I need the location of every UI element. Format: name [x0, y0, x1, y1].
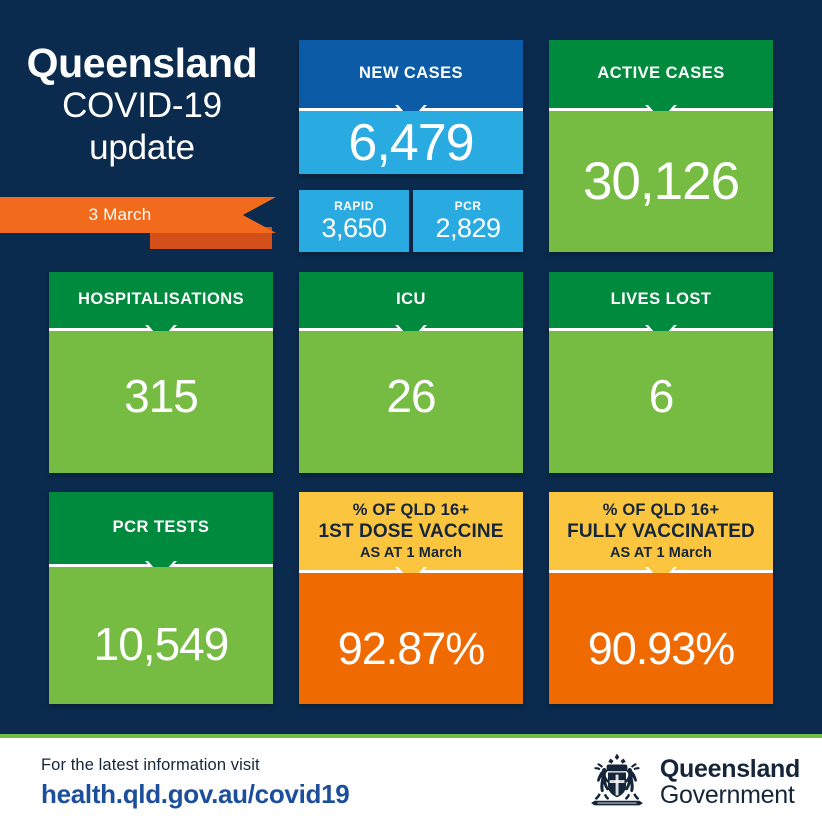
- footer-url[interactable]: health.qld.gov.au/covid19: [41, 779, 349, 810]
- card-title-first-dose-line2: 1ST DOSE VACCINE: [319, 521, 504, 544]
- logo-word-queensland: Queensland: [660, 757, 800, 783]
- footer-text-block: For the latest information visit health.…: [41, 756, 349, 810]
- card-header-pcr-tests: PCR TESTS: [49, 492, 273, 564]
- title-line-update: update: [0, 127, 284, 168]
- card-header-new-cases: NEW CASES: [299, 40, 523, 108]
- card-body-icu: 26: [299, 331, 523, 473]
- covid-update-infographic: Queensland COVID-19 update 3 March NEW C…: [0, 0, 822, 822]
- title-line-covid19: COVID-19: [0, 85, 284, 126]
- logo-word-government: Government: [660, 783, 800, 809]
- card-body-new-cases: 6,479: [299, 111, 523, 174]
- stat-card-first-dose-vaccine: % OF QLD 16+ 1ST DOSE VACCINE AS AT 1 Ma…: [299, 492, 523, 704]
- card-header-first-dose: % OF QLD 16+ 1ST DOSE VACCINE AS AT 1 Ma…: [299, 492, 523, 570]
- stat-card-fully-vaccinated: % OF QLD 16+ FULLY VACCINATED AS AT 1 Ma…: [549, 492, 773, 704]
- card-header-active-cases: ACTIVE CASES: [549, 40, 773, 108]
- card-title-icu: ICU: [396, 290, 426, 310]
- subtile-label-pcr: PCR: [455, 199, 482, 213]
- subtile-rapid: RAPID 3,650: [299, 190, 409, 252]
- card-header-fully-vaccinated: % OF QLD 16+ FULLY VACCINATED AS AT 1 Ma…: [549, 492, 773, 570]
- queensland-government-logo: Queensland Government: [586, 752, 800, 813]
- subtile-pcr: PCR 2,829: [413, 190, 523, 252]
- subtile-value-rapid: 3,650: [321, 214, 386, 242]
- card-body-lives-lost: 6: [549, 331, 773, 473]
- stat-card-icu: ICU 26: [299, 272, 523, 473]
- card-title-active-cases: ACTIVE CASES: [597, 64, 724, 84]
- card-value-pcr-tests: 10,549: [94, 621, 229, 667]
- stat-card-hospitalisations: HOSPITALISATIONS 315: [49, 272, 273, 473]
- card-value-icu: 26: [386, 373, 435, 419]
- card-title-fully-vaccinated-line2: FULLY VACCINATED: [567, 521, 755, 544]
- stat-card-lives-lost: LIVES LOST 6: [549, 272, 773, 473]
- subtile-label-rapid: RAPID: [334, 199, 374, 213]
- card-header-hospitalisations: HOSPITALISATIONS: [49, 272, 273, 328]
- card-value-new-cases: 6,479: [348, 117, 473, 169]
- card-body-active-cases: 30,126: [549, 111, 773, 252]
- card-body-pcr-tests: 10,549: [49, 567, 273, 704]
- stat-card-new-cases: NEW CASES 6,479: [299, 40, 523, 174]
- card-title-pcr-tests: PCR TESTS: [113, 518, 210, 538]
- card-body-hospitalisations: 315: [49, 331, 273, 473]
- card-value-hospitalisations: 315: [124, 373, 198, 419]
- subtile-value-pcr: 2,829: [435, 214, 500, 242]
- date-ribbon: 3 March: [0, 197, 290, 253]
- stat-card-active-cases: ACTIVE CASES 30,126: [549, 40, 773, 252]
- ribbon-date-label: 3 March: [0, 197, 240, 233]
- card-body-fully-vaccinated: 90.93%: [549, 573, 773, 704]
- card-title-fully-vaccinated-line1: % OF QLD 16+: [603, 500, 720, 521]
- card-title-first-dose-line3: AS AT 1 March: [360, 544, 462, 563]
- card-title-hospitalisations: HOSPITALISATIONS: [78, 290, 244, 310]
- footer: For the latest information visit health.…: [0, 738, 822, 822]
- card-title-fully-vaccinated-line3: AS AT 1 March: [610, 544, 712, 563]
- title-line-queensland: Queensland: [0, 42, 284, 85]
- card-title-lives-lost: LIVES LOST: [611, 290, 712, 310]
- stat-card-pcr-tests: PCR TESTS 10,549: [49, 492, 273, 704]
- card-header-lives-lost: LIVES LOST: [549, 272, 773, 328]
- card-value-active-cases: 30,126: [583, 155, 739, 208]
- card-value-lives-lost: 6: [649, 373, 674, 419]
- card-value-fully-vaccinated: 90.93%: [588, 626, 735, 671]
- coat-of-arms-icon: [586, 752, 648, 813]
- logo-wordmark: Queensland Government: [660, 757, 800, 808]
- card-header-icu: ICU: [299, 272, 523, 328]
- card-body-first-dose: 92.87%: [299, 573, 523, 704]
- card-title-first-dose-line1: % OF QLD 16+: [353, 500, 470, 521]
- card-title-new-cases: NEW CASES: [359, 64, 463, 84]
- card-value-first-dose: 92.87%: [338, 626, 485, 671]
- footer-prompt: For the latest information visit: [41, 756, 349, 775]
- page-title: Queensland COVID-19 update: [0, 42, 284, 168]
